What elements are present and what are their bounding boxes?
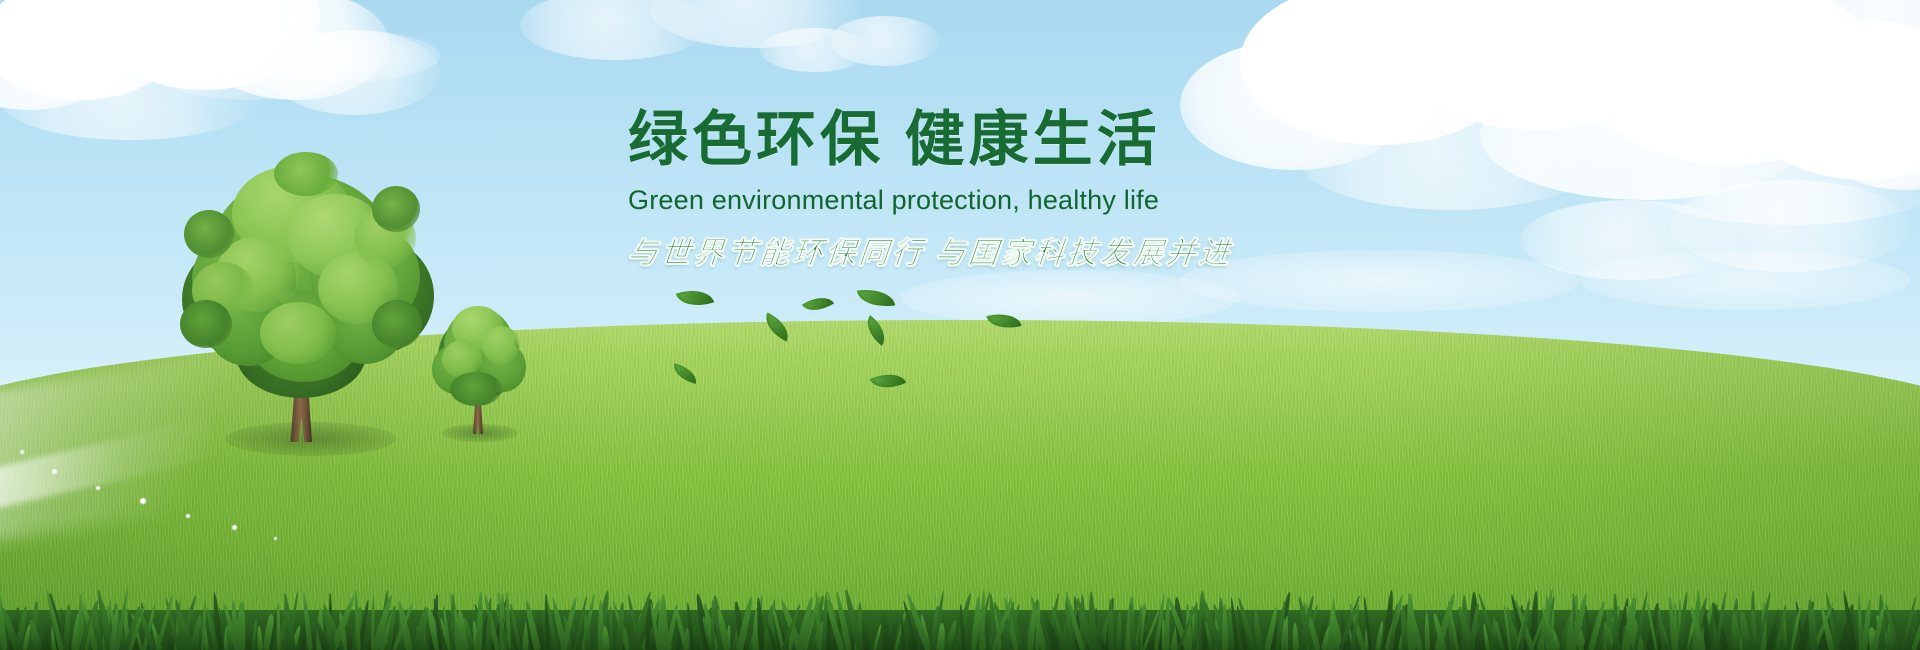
- tagline-calligraphy: 与世界节能环保同行 与国家科技发展并进: [626, 228, 1331, 272]
- sparkle: [232, 525, 237, 530]
- grass-border: [0, 588, 1920, 650]
- sparkle: [140, 498, 146, 504]
- subtitle-english: Green environmental protection, healthy …: [628, 185, 1328, 216]
- sparkle: [186, 514, 190, 518]
- large-tree: [176, 150, 426, 450]
- eco-banner: 绿色环保 健康生活 Green environmental protection…: [0, 0, 1920, 650]
- page-title: 绿色环保 健康生活: [628, 108, 1328, 171]
- cloud-far-right-edge: [1780, 0, 1920, 200]
- sparkle: [20, 450, 24, 454]
- cloud-small-center: [760, 16, 940, 86]
- large-tree-canopy: [176, 150, 426, 385]
- small-tree-canopy: [428, 300, 528, 408]
- sparkle: [52, 469, 57, 474]
- cloud-wisp-left: [150, 30, 450, 120]
- sparkle: [96, 486, 100, 490]
- small-tree: [428, 300, 528, 440]
- headline-block: 绿色环保 健康生活 Green environmental protection…: [628, 108, 1328, 272]
- sparkle: [274, 537, 277, 540]
- grass-tuft: [1613, 593, 1619, 650]
